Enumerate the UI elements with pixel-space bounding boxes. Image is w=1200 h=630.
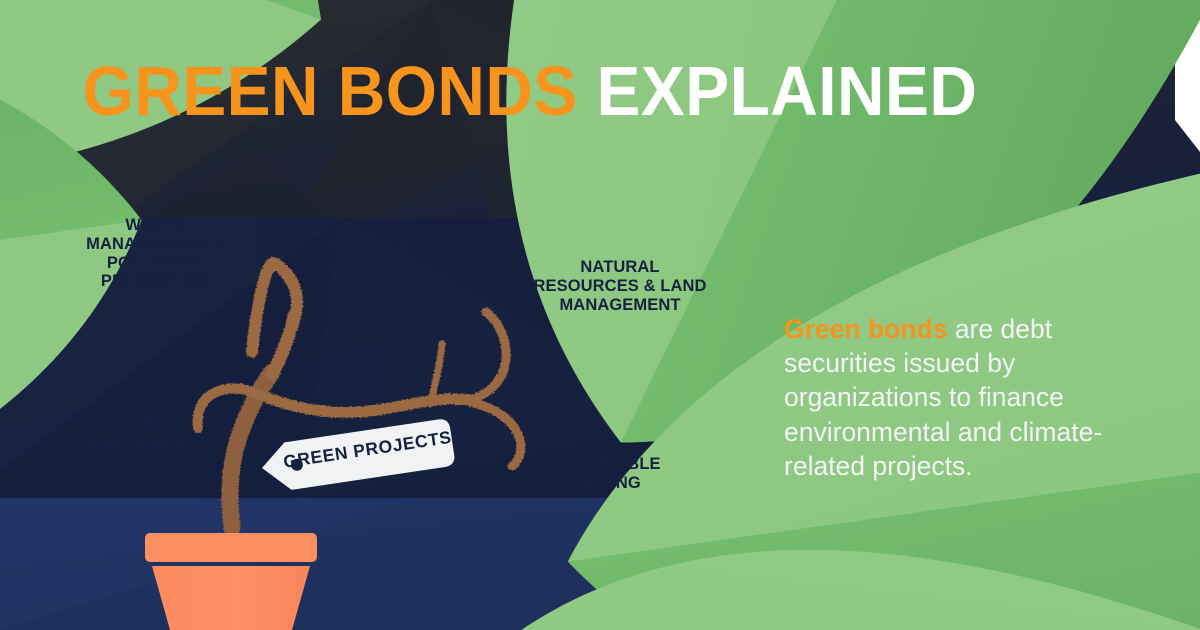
leaf-label-renewable-energy: RENEWABLE & ALTERNATIVE ENERGY bbox=[312, 236, 462, 292]
leaf-label-sustainable-housing: SUSTAINABLE HOUSING bbox=[512, 455, 692, 493]
leaf-label-waste-management: WASTE MANAGEMENT & POLLUTION PREVENTION bbox=[45, 216, 265, 291]
leaf-label-natural-resources: NATURAL RESOURCES & LAND MANAGEMENT bbox=[514, 258, 726, 314]
title-plain: EXPLAINED bbox=[597, 52, 978, 130]
leaf-label-water-management: WATER MANAGEMENT bbox=[45, 415, 230, 453]
description-paragraph: Green bonds are debt securities issued b… bbox=[784, 312, 1144, 484]
title-accent: GREEN BONDS bbox=[83, 52, 578, 130]
infographic-canvas: GREEN BONDS EXPLAINED Green bonds are de… bbox=[0, 0, 1200, 630]
page-title: GREEN BONDS EXPLAINED bbox=[32, 56, 1028, 126]
description-lead: Green bonds bbox=[784, 314, 947, 344]
